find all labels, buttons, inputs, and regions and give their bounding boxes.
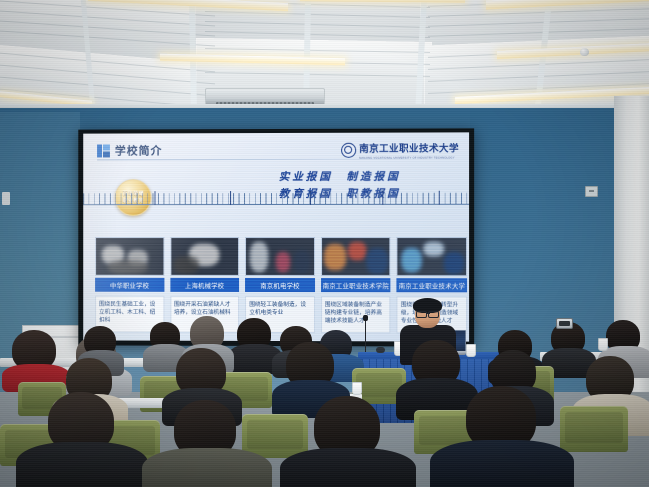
list-item[interactable]: 中华职业学校 围绕民生基础工业，设立机工科、木工科、纽扣科 xyxy=(95,237,164,333)
university-name-cn: 南京工业职业技术大学 xyxy=(359,143,459,154)
card-caption: 南京工业职业技术学院 xyxy=(321,278,391,292)
sprinkler-head-icon xyxy=(213,27,218,36)
card-caption: 中华职业学校 xyxy=(95,278,164,292)
list-item xyxy=(6,330,66,380)
list-item[interactable]: 南京工业职业技术学院 围绕区域装备制造产业链构建专业链，培养高端技术技能人才 xyxy=(321,237,391,334)
university-logo: 南京工业职业技术大学 NANJING VOCATIONAL UNIVERSITY… xyxy=(341,138,459,160)
sprinkler-head-icon xyxy=(250,72,255,81)
card-thumbnail xyxy=(95,237,164,276)
blue-square-icon xyxy=(97,144,110,157)
list-item xyxy=(290,396,404,487)
paper-cup-icon xyxy=(352,382,362,395)
list-item xyxy=(232,318,278,366)
calligraphy-line-1: 实业报国 制造报国 xyxy=(242,169,438,186)
card-thumbnail xyxy=(321,237,391,276)
card-thumbnail xyxy=(245,237,315,276)
page-title: 学校简介 xyxy=(115,142,163,158)
smartphone-icon[interactable] xyxy=(556,318,573,329)
university-name-en: NANJING VOCATIONAL UNIVERSITY OF INDUSTR… xyxy=(359,157,459,161)
card-thumbnail xyxy=(170,237,239,276)
card-caption: 南京工业职业技术大学 xyxy=(397,278,467,292)
glasses-icon xyxy=(416,311,439,316)
light-switch[interactable] xyxy=(2,192,10,205)
card-caption: 上海机械学校 xyxy=(170,278,239,292)
paper-cup-icon xyxy=(598,338,608,351)
lecture-room-photo: 学校简介 南京工业职业技术大学 NANJING VOCATIONAL UNIVE… xyxy=(0,0,649,487)
smoke-detector-icon xyxy=(580,48,589,56)
card-thumbnail xyxy=(397,237,467,276)
list-item xyxy=(26,392,136,487)
microphone-icon xyxy=(364,318,367,354)
mouse-icon[interactable] xyxy=(376,347,385,353)
card-description: 围绕区域装备制造产业链构建专业链，培养高端技术技能人才 xyxy=(321,296,391,333)
list-item xyxy=(152,400,260,487)
list-item xyxy=(440,386,560,487)
university-seal-icon xyxy=(341,142,356,157)
slide-title-row: 学校简介 xyxy=(97,142,162,158)
ceiling xyxy=(0,0,649,118)
card-caption: 南京机电学校 xyxy=(245,278,315,292)
history-timeline xyxy=(83,193,469,205)
chair[interactable] xyxy=(560,406,628,452)
wall-outlet-panel[interactable] xyxy=(585,186,598,197)
